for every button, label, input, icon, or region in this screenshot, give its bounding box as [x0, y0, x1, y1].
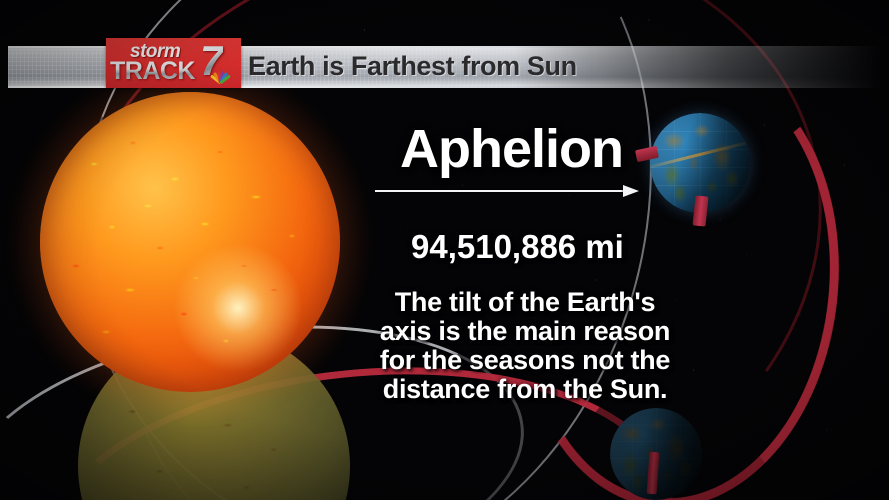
- distance-arrow: [375, 186, 652, 196]
- logo-track-text: TRACK: [110, 57, 195, 86]
- nbc-peacock-icon: [206, 68, 232, 83]
- sun-limb-shading: [40, 92, 340, 392]
- explanatory-text: The tilt of the Earth's axis is the main…: [355, 288, 695, 404]
- weather-graphic-stage: Aphelion 94,510,886 mi The tilt of the E…: [0, 0, 889, 500]
- explanatory-text-line-2: axis is the main reason: [355, 317, 695, 346]
- distance-arrow-shaft: [375, 190, 627, 192]
- distance-arrow-head-icon: [623, 185, 639, 197]
- explanatory-text-line-1: The tilt of the Earth's: [355, 288, 695, 317]
- explanatory-text-line-3: for the seasons not the: [355, 346, 695, 375]
- sun: [40, 92, 340, 392]
- sun-disc: [40, 92, 340, 392]
- explanatory-text-line-4: distance from the Sun.: [355, 375, 695, 404]
- banner-title: Earth is Farthest from Sun: [248, 51, 577, 82]
- station-logo[interactable]: storm TRACK 7: [106, 38, 241, 88]
- page-title: Aphelion: [400, 118, 623, 180]
- distance-value: 94,510,886 mi: [411, 228, 624, 266]
